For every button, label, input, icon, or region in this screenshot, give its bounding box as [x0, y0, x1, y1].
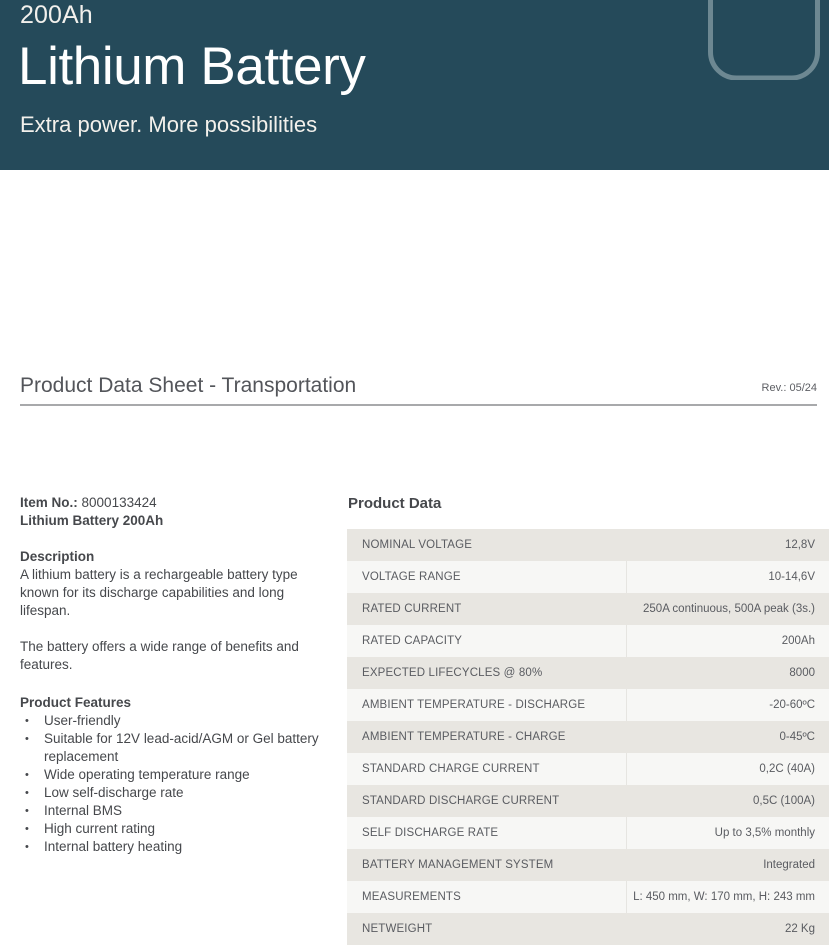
spec-key: RATED CURRENT: [347, 593, 626, 625]
table-row: SELF DISCHARGE RATE Up to 3,5% monthly: [347, 817, 829, 849]
spec-key: EXPECTED LIFECYCLES @ 80%: [347, 657, 626, 689]
spec-value: 0,2C (40A): [626, 753, 829, 785]
list-item: Wide operating temperature range: [20, 766, 320, 784]
hero-capacity: 200Ah: [20, 0, 93, 30]
page-title: Product Data Sheet - Transportation: [20, 373, 356, 399]
table-row: BATTERY MANAGEMENT SYSTEM Integrated: [347, 849, 829, 881]
spec-value: Integrated: [626, 849, 829, 881]
spec-value: 8000: [626, 657, 829, 689]
item-number-value: 8000133424: [82, 495, 157, 510]
description-heading: Description: [20, 548, 320, 566]
spec-key: STANDARD CHARGE CURRENT: [347, 753, 626, 785]
battery-outline-icon: [708, 0, 820, 80]
table-row: RATED CAPACITY 200Ah: [347, 625, 829, 657]
revision-label: Rev.: 05/24: [762, 381, 817, 395]
list-item: High current rating: [20, 820, 320, 838]
features-heading: Product Features: [20, 694, 320, 712]
spec-key: AMBIENT TEMPERATURE - CHARGE: [347, 721, 626, 753]
spec-key: VOLTAGE RANGE: [347, 561, 626, 593]
list-item: Internal BMS: [20, 802, 320, 820]
description-paragraph-1: A lithium battery is a rechargeable batt…: [20, 566, 320, 620]
sheet-header: Product Data Sheet - Transportation Rev.…: [0, 170, 829, 230]
table-row: VOLTAGE RANGE 10-14,6V: [347, 561, 829, 593]
spec-value: 0,5C (100A): [626, 785, 829, 817]
product-data-heading: Product Data: [347, 494, 829, 514]
hero-banner: 200Ah Lithium Battery Extra power. More …: [0, 0, 829, 170]
spec-key: NETWEIGHT: [347, 913, 626, 945]
spec-value: -20-60ºC: [626, 689, 829, 721]
table-row: MEASUREMENTS L: 450 mm, W: 170 mm, H: 24…: [347, 881, 829, 913]
spec-key: MEASUREMENTS: [347, 881, 626, 913]
product-data-table: NOMINAL VOLTAGE 12,8V VOLTAGE RANGE 10-1…: [347, 529, 829, 945]
description-paragraph-2: The battery offers a wide range of benef…: [20, 638, 320, 674]
spec-key: RATED CAPACITY: [347, 625, 626, 657]
list-item: Low self-discharge rate: [20, 784, 320, 802]
spec-value: 0-45ºC: [626, 721, 829, 753]
title-divider: [20, 404, 817, 406]
spec-key: AMBIENT TEMPERATURE - DISCHARGE: [347, 689, 626, 721]
spec-value: 250A continuous, 500A peak (3s.): [626, 593, 829, 625]
spec-key: BATTERY MANAGEMENT SYSTEM: [347, 849, 626, 881]
table-row: NETWEIGHT 22 Kg: [347, 913, 829, 945]
table-row: EXPECTED LIFECYCLES @ 80% 8000: [347, 657, 829, 689]
hero-title: Lithium Battery: [18, 36, 365, 98]
table-row: AMBIENT TEMPERATURE - CHARGE 0-45ºC: [347, 721, 829, 753]
list-item: Suitable for 12V lead-acid/AGM or Gel ba…: [20, 730, 320, 766]
spec-value: 12,8V: [626, 529, 829, 561]
features-list: User-friendly Suitable for 12V lead-acid…: [20, 712, 320, 856]
table-row: NOMINAL VOLTAGE 12,8V: [347, 529, 829, 561]
spec-key: NOMINAL VOLTAGE: [347, 529, 626, 561]
spec-value: 10-14,6V: [626, 561, 829, 593]
hero-subtitle: Extra power. More possibilities: [20, 110, 317, 140]
item-number-line: Item No.: 8000133424: [20, 494, 320, 512]
spec-key: SELF DISCHARGE RATE: [347, 817, 626, 849]
table-row: STANDARD DISCHARGE CURRENT 0,5C (100A): [347, 785, 829, 817]
product-name: Lithium Battery 200Ah: [20, 512, 320, 530]
table-row: RATED CURRENT 250A continuous, 500A peak…: [347, 593, 829, 625]
spec-value: Up to 3,5% monthly: [626, 817, 829, 849]
list-item: Internal battery heating: [20, 838, 320, 856]
table-row: AMBIENT TEMPERATURE - DISCHARGE -20-60ºC: [347, 689, 829, 721]
spec-key: STANDARD DISCHARGE CURRENT: [347, 785, 626, 817]
table-row: STANDARD CHARGE CURRENT 0,2C (40A): [347, 753, 829, 785]
spec-value: 200Ah: [626, 625, 829, 657]
spec-value: L: 450 mm, W: 170 mm, H: 243 mm: [626, 881, 829, 913]
spec-value: 22 Kg: [626, 913, 829, 945]
list-item: User-friendly: [20, 712, 320, 730]
item-number-label: Item No.:: [20, 495, 78, 510]
product-info-column: Item No.: 8000133424 Lithium Battery 200…: [20, 494, 320, 856]
